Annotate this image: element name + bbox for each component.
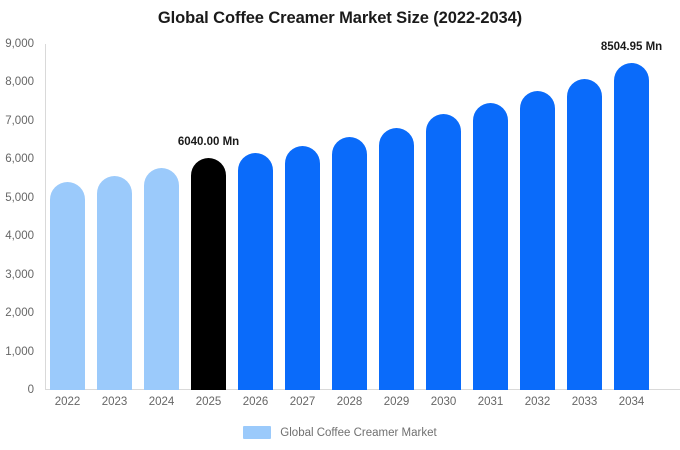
chart-legend: Global Coffee Creamer Market [0,426,680,439]
x-axis-tick-label-2034: 2034 [602,396,662,408]
x-axis-ticks: 2022202320242025202620272028202920302031… [45,0,680,450]
y-axis-tick-label: 0 [0,384,34,396]
bar-chart: Global Coffee Creamer Market Size (2022-… [0,0,680,450]
legend-label: Global Coffee Creamer Market [280,427,436,439]
y-axis-tick-label: 8,000 [0,76,34,88]
y-axis-tick-label: 5,000 [0,192,34,204]
y-axis-tick-label: 7,000 [0,115,34,127]
y-axis-tick-label: 1,000 [0,346,34,358]
legend-item[interactable]: Global Coffee Creamer Market [243,426,436,439]
y-axis-tick-label: 2,000 [0,307,34,319]
y-axis-tick-label: 6,000 [0,153,34,165]
y-axis-tick-label: 9,000 [0,38,34,50]
y-axis-tick-label: 4,000 [0,230,34,242]
y-axis-tick-label: 3,000 [0,269,34,281]
legend-swatch [243,426,271,439]
